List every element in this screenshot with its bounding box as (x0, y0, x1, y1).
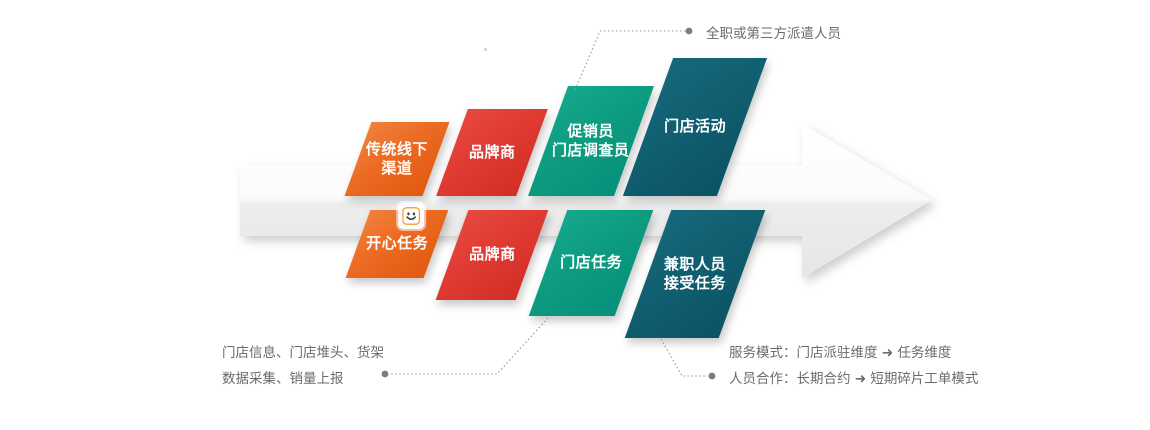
annotation-staffing: 全职或第三方派遣人员 (706, 22, 841, 48)
chevron-label: 门店活动 (664, 117, 726, 136)
chevron-label: 品牌商 (469, 245, 516, 264)
diagram-canvas: 传统线下 渠道 品牌商 促销员 门店调查员 门店活动 开心任务 品牌商 门店任务… (0, 0, 1150, 430)
chevron-label: 门店任务 (560, 253, 622, 272)
annotation-service-model: 服务模式：门店派驻维度 ➜ 任务维度 人员合作：长期合约 ➜ 短期碎片工单模式 (729, 341, 978, 392)
annotation-line: 全职或第三方派遣人员 (706, 22, 841, 48)
chevron-label: 兼职人员 接受任务 (664, 255, 726, 293)
annotation-line: 数据采集、销量上报 (222, 367, 384, 393)
annotation-line: 人员合作：长期合约 ➜ 短期碎片工单模式 (729, 367, 978, 393)
annotation-line: 服务模式：门店派驻维度 ➜ 任务维度 (729, 341, 978, 367)
chevron-label: 开心任务 (366, 234, 428, 253)
annotation-line: 门店信息、门店堆头、货架 (222, 341, 384, 367)
chevron-label: 品牌商 (469, 143, 516, 162)
chevron-label: 传统线下 渠道 (366, 140, 428, 178)
annotation-data-collection: 门店信息、门店堆头、货架 数据采集、销量上报 (222, 341, 384, 392)
smiley-face-icon (398, 203, 424, 229)
chevron-label: 促销员 门店调查员 (552, 122, 630, 160)
artifact-speck (484, 48, 487, 51)
